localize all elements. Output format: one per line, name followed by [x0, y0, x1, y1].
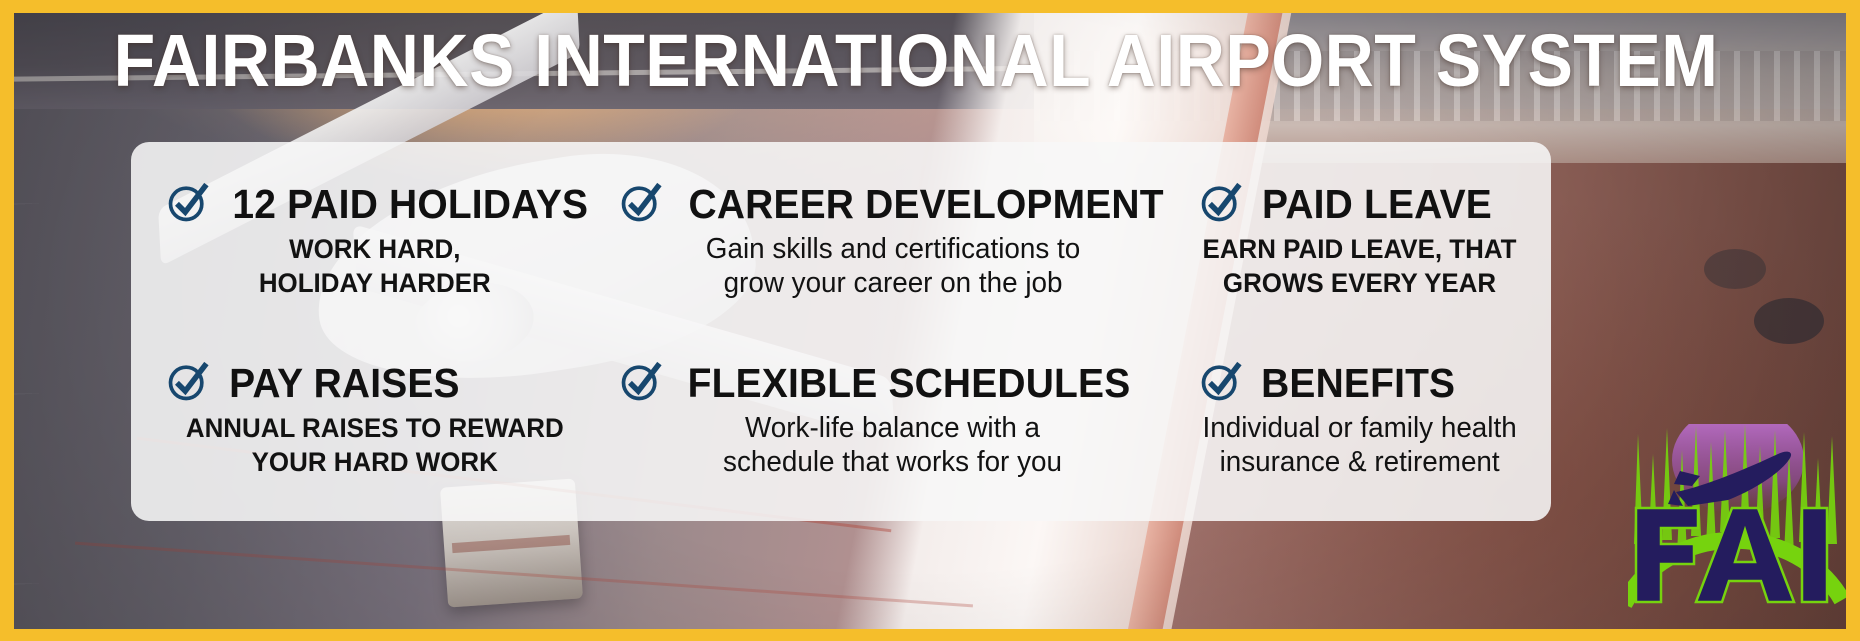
benefit-heading-row: BENEFITS: [1188, 361, 1531, 405]
benefit-description: Work-life balance with a schedule that w…: [723, 411, 1062, 479]
benefit-description: ANNUAL RAISES TO REWARD YOUR HARD WORK: [185, 411, 563, 479]
benefit-description: WORK HARD, HOLIDAY HARDER: [258, 232, 490, 300]
benefit-heading-row: PAID LEAVE: [1188, 182, 1531, 226]
benefit-heading-row: FLEXIBLE SCHEDULES: [610, 361, 1176, 405]
benefit-description-line: schedule that works for you: [723, 446, 1062, 478]
benefit-description-line: HOLIDAY HARDER: [258, 268, 490, 298]
benefit-description: Gain skills and certifications to grow y…: [705, 232, 1079, 300]
benefits-card: 12 PAID HOLIDAYS WORK HARD, HOLIDAY HARD…: [131, 142, 1551, 521]
benefit-title: PAID LEAVE: [1262, 182, 1492, 226]
benefit-description-line: GROWS EVERY YEAR: [1223, 268, 1496, 298]
page-title: FAIRBANKS INTERNATIONAL AIRPORT SYSTEM: [73, 22, 1758, 100]
benefit-description-line: ANNUAL RAISES TO REWARD: [185, 413, 563, 443]
benefit-description-line: grow your career on the job: [723, 267, 1062, 299]
benefit-description-line: YOUR HARD WORK: [251, 447, 497, 477]
check-circle-icon: [1198, 358, 1244, 404]
benefit-title: 12 PAID HOLIDAYS: [232, 182, 588, 226]
benefit-description-line: insurance & retirement: [1219, 446, 1499, 478]
benefit-item: BENEFITS Individual or family health ins…: [1182, 331, 1537, 510]
check-circle-icon: [618, 358, 664, 404]
benefit-title: CAREER DEVELOPMENT: [688, 182, 1163, 226]
check-circle-icon: [1198, 179, 1244, 225]
benefit-description: Individual or family health insurance & …: [1202, 411, 1516, 479]
benefit-title: FLEXIBLE SCHEDULES: [687, 361, 1130, 405]
benefit-description-line: Gain skills and certifications to: [705, 233, 1079, 265]
benefit-item: PAID LEAVE EARN PAID LEAVE, THAT GROWS E…: [1182, 152, 1537, 331]
benefit-item: 12 PAID HOLIDAYS WORK HARD, HOLIDAY HARD…: [145, 152, 604, 331]
benefit-title: PAY RAISES: [229, 361, 460, 405]
fai-airport-logo[interactable]: [1628, 424, 1846, 629]
benefit-item: FLEXIBLE SCHEDULES Work-life balance wit…: [604, 331, 1182, 510]
benefit-description-line: Individual or family health: [1202, 412, 1516, 444]
check-circle-icon: [165, 179, 211, 225]
benefit-description-line: EARN PAID LEAVE, THAT: [1202, 234, 1516, 264]
fai-logo-graphic: [1628, 424, 1846, 629]
check-circle-icon: [618, 179, 664, 225]
check-circle-icon: [165, 358, 211, 404]
benefit-description-line: Work-life balance with a: [745, 412, 1040, 444]
benefit-description-line: WORK HARD,: [289, 234, 460, 264]
benefit-heading-row: PAY RAISES: [151, 361, 598, 405]
benefit-title: BENEFITS: [1261, 361, 1455, 405]
benefit-item: CAREER DEVELOPMENT Gain skills and certi…: [604, 152, 1182, 331]
benefit-description: EARN PAID LEAVE, THAT GROWS EVERY YEAR: [1202, 232, 1516, 300]
benefit-item: PAY RAISES ANNUAL RAISES TO REWARD YOUR …: [145, 331, 604, 510]
benefit-heading-row: 12 PAID HOLIDAYS: [151, 182, 598, 226]
airport-recruitment-banner: FAIRBANKS INTERNATIONAL AIRPORT SYSTEM 1…: [0, 0, 1860, 641]
benefit-heading-row: CAREER DEVELOPMENT: [610, 182, 1176, 226]
